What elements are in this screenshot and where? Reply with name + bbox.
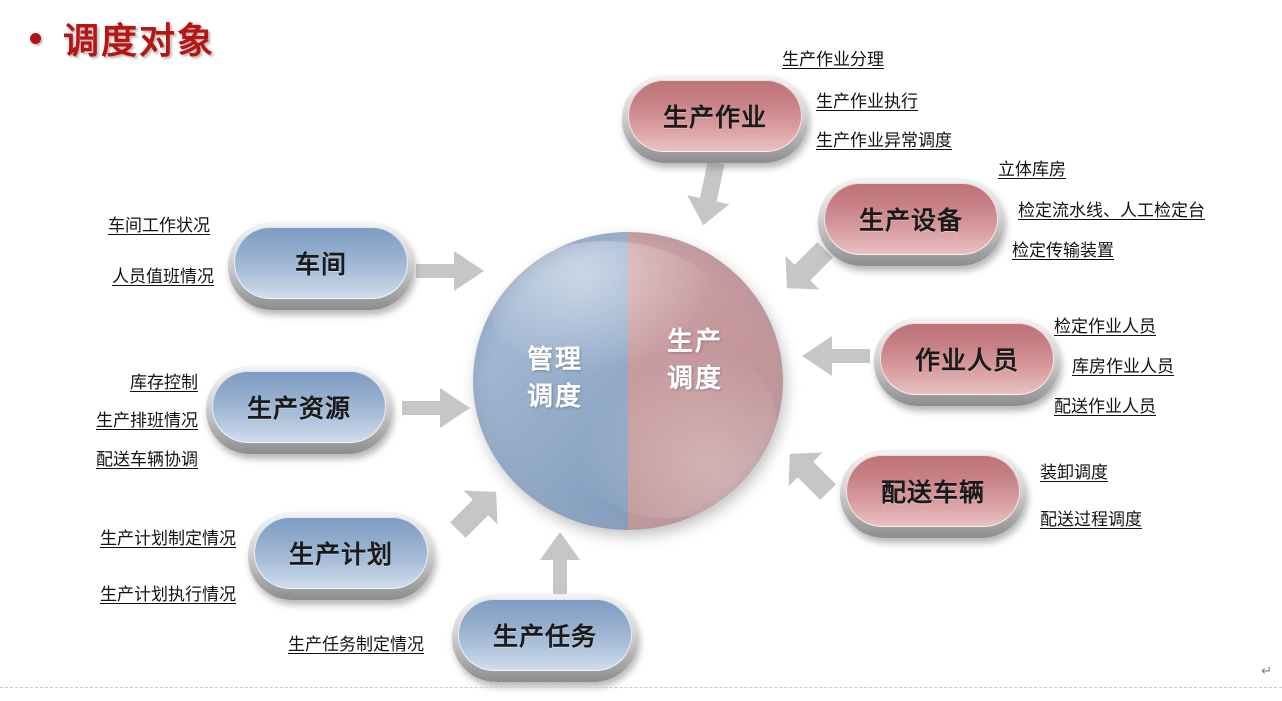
node-zuoye-renyuan[interactable]: 作业人员 — [874, 318, 1060, 406]
slide-canvas: 调度对象 管理 调度 生产 调度 — [0, 0, 1282, 701]
annotation-ziyuan-2: 生产排班情况 — [96, 406, 198, 431]
node-label: 车间 — [295, 245, 347, 281]
node-shengchan-ziyuan[interactable]: 生产资源 — [206, 366, 392, 454]
page-title: 调度对象 — [30, 12, 215, 64]
arrow-zuoye-to-center — [684, 160, 736, 228]
bullet-icon — [30, 33, 41, 44]
annotation-zuoye-2: 生产作业执行 — [816, 87, 918, 112]
annotation-shebei-2: 检定流水线、人工检定台 — [1018, 196, 1205, 221]
annotation-jihua-2: 生产计划执行情况 — [100, 580, 236, 605]
annotation-jihua-1: 生产计划制定情况 — [100, 524, 236, 549]
node-label: 作业人员 — [915, 341, 1019, 377]
node-shengchan-jihua[interactable]: 生产计划 — [248, 512, 434, 600]
annotation-renyuan-2: 库房作业人员 — [1072, 352, 1174, 377]
annotation-renwu-1: 生产任务制定情况 — [288, 630, 424, 655]
node-label: 生产作业 — [663, 98, 767, 134]
arrow-renyuan-to-center — [800, 333, 872, 379]
annotation-zuoye-3: 生产作业异常调度 — [816, 126, 952, 151]
sphere-label-left: 管理 调度 — [493, 342, 617, 416]
annotation-cheliang-1: 装卸调度 — [1040, 458, 1108, 483]
annotation-renyuan-1: 检定作业人员 — [1054, 312, 1156, 337]
node-label: 生产任务 — [493, 617, 597, 653]
paragraph-mark-icon: ↵ — [1261, 664, 1272, 679]
annotation-chejian-2: 人员值班情况 — [112, 262, 214, 287]
node-label: 生产设备 — [859, 201, 963, 237]
annotation-shebei-1: 立体库房 — [998, 155, 1066, 180]
annotation-renyuan-3: 配送作业人员 — [1054, 392, 1156, 417]
bottom-divider — [0, 687, 1282, 688]
node-label: 生产资源 — [247, 389, 351, 425]
annotation-zuoye-1: 生产作业分理 — [782, 45, 884, 70]
annotation-chejian-1: 车间工作状况 — [108, 211, 210, 236]
annotation-cheliang-2: 配送过程调度 — [1040, 505, 1142, 530]
sphere-label-right: 生产 调度 — [633, 324, 757, 398]
node-peisong-cheliang[interactable]: 配送车辆 — [840, 450, 1026, 538]
arrow-ziyuan-to-center — [400, 385, 472, 431]
node-chejian[interactable]: 车间 — [228, 222, 414, 310]
arrow-renwu-to-center — [537, 530, 583, 600]
center-sphere: 管理 调度 生产 调度 — [473, 232, 783, 530]
arrow-cheliang-to-center — [778, 442, 840, 504]
annotation-shebei-3: 检定传输装置 — [1012, 236, 1114, 261]
annotation-ziyuan-1: 库存控制 — [130, 368, 198, 393]
node-shengchan-zuoye[interactable]: 生产作业 — [622, 75, 808, 163]
node-shengchan-renwu[interactable]: 生产任务 — [452, 594, 638, 682]
node-shengchan-shebei[interactable]: 生产设备 — [818, 178, 1004, 266]
node-label: 生产计划 — [289, 535, 393, 571]
page-title-text: 调度对象 — [63, 12, 215, 64]
node-label: 配送车辆 — [881, 473, 985, 509]
annotation-ziyuan-3: 配送车辆协调 — [96, 445, 198, 470]
